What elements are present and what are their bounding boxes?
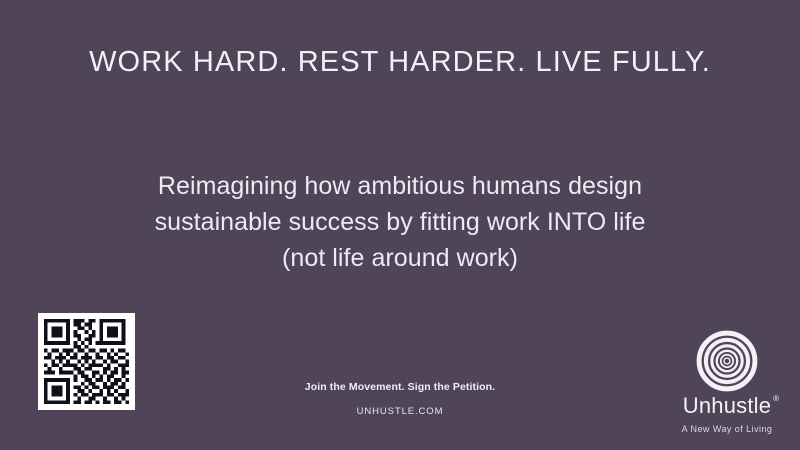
registered-trademark-icon: ®: [773, 395, 779, 403]
subheading-line-1: Reimagining how ambitious humans design: [0, 168, 800, 204]
logo-wordmark-text: Unhustle: [683, 393, 771, 418]
logo-wordmark: Unhustle ®: [683, 395, 771, 417]
spiral-ripple-icon: [696, 330, 758, 392]
logo-tagline: A New Way of Living: [662, 424, 792, 434]
subheading: Reimagining how ambitious humans design …: [0, 168, 800, 276]
qr-code-icon[interactable]: [38, 313, 135, 410]
subheading-line-2: sustainable success by fitting work INTO…: [0, 204, 800, 240]
brand-logo: Unhustle ® A New Way of Living: [662, 330, 792, 434]
subheading-line-3: (not life around work): [0, 240, 800, 276]
promo-slide: WORK HARD. REST HARDER. LIVE FULLY. Reim…: [0, 0, 800, 450]
qr-code-matrix: [44, 319, 129, 404]
page-title: WORK HARD. REST HARDER. LIVE FULLY.: [0, 46, 800, 79]
